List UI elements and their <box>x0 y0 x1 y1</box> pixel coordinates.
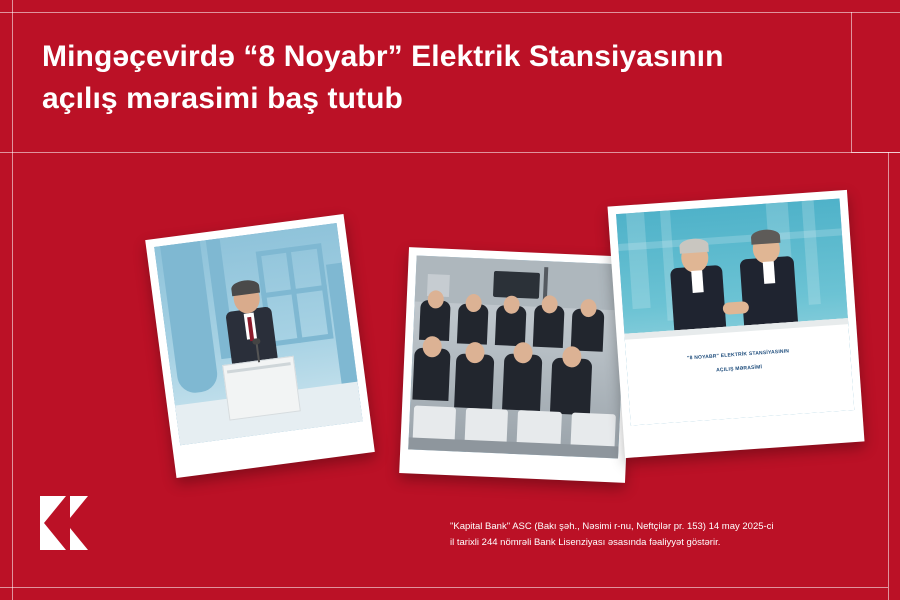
photo2-wall-screen <box>493 271 540 299</box>
page-title: Mingəçevirdə “8 Noyabr” Elektrik Stansiy… <box>42 36 802 120</box>
rule-bottom-horizontal <box>0 587 888 588</box>
rule-right-vertical-upper <box>851 12 852 152</box>
rule-top-horizontal <box>0 12 900 13</box>
photo-handshake-at-table: "8 NOYABR" ELEKTRİK STANSİYASININ AÇILIŞ… <box>608 190 865 458</box>
photo3-handshake <box>722 301 749 315</box>
photo-speaker-image <box>154 223 363 445</box>
photo3-person-right-hair <box>751 229 781 245</box>
photo-handshake-image: "8 NOYABR" ELEKTRİK STANSİYASININ AÇILIŞ… <box>616 198 854 425</box>
rule-right-vertical-lower <box>888 152 889 600</box>
photo-speaker-at-podium <box>145 214 375 478</box>
photo-audience-image <box>408 256 626 459</box>
rule-left-vertical <box>12 0 13 600</box>
legal-disclaimer: "Kapital Bank" ASC (Bakı şəh., Nəsimi r-… <box>450 519 840 552</box>
photo3-person-left-shirt <box>691 270 704 293</box>
photo-seated-audience <box>399 247 635 483</box>
rule-mid-horizontal <box>0 152 900 153</box>
photo3-person-right-shirt <box>763 261 776 284</box>
kapital-bank-logo <box>40 496 88 550</box>
rule-right-horizontal <box>851 152 900 153</box>
photo3-person-left-hair <box>679 238 709 254</box>
poster-canvas: Mingəçevirdə “8 Noyabr” Elektrik Stansiy… <box>0 0 900 600</box>
